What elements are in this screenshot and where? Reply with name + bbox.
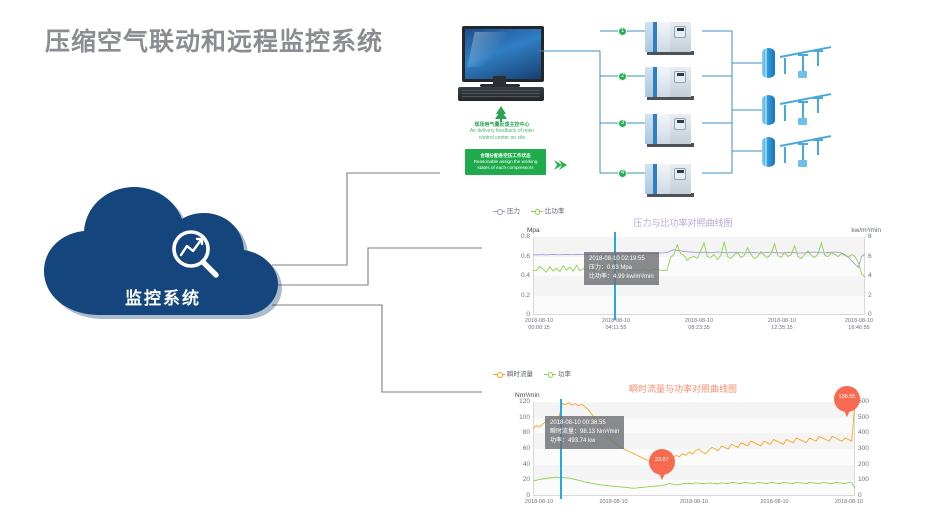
x-tick-date: 2018-08-10 xyxy=(602,318,630,324)
flow-power-chart[interactable]: 瞬时流量 功率 瞬时流量与功率对照曲线图 Nm³/min 12010080604… xyxy=(483,366,883,526)
x-tick: 2018-08-10 xyxy=(823,499,875,506)
chart2-marker-pin-low-label: 33.87 xyxy=(649,457,675,463)
compressor-panel xyxy=(674,26,686,38)
y-tick: 0.4 xyxy=(503,272,530,279)
x-tick-date: 2018-08-10 xyxy=(599,499,627,505)
y-tick: 0.8 xyxy=(503,233,530,240)
chart2-marker-pin-high[interactable]: 138.55 xyxy=(834,386,860,418)
compressor-unit xyxy=(645,22,691,52)
y2-tick: 0 xyxy=(858,492,862,499)
y-tick: 0 xyxy=(503,492,530,499)
y2-tick: 8 xyxy=(868,233,872,240)
chart1-tooltip-row1: 压力：0.63 Mpa xyxy=(589,264,654,273)
chart2-tooltip-row1: 瞬时流量：98.13 Nm³/min xyxy=(550,428,619,437)
chart2-tooltip: 2018-08-10 00:38:55 瞬时流量：98.13 Nm³/min 功… xyxy=(545,416,624,449)
x-tick-time: 00:00:15 xyxy=(528,325,549,331)
series-line-功率 xyxy=(533,477,855,488)
pipe-main xyxy=(780,135,831,146)
air-tank-group xyxy=(762,135,832,169)
pipe-cross xyxy=(798,143,808,145)
system-topology-diagram: 现场用气量反馈主控中心 Air delivery feedback of mai… xyxy=(440,18,940,203)
y-tick: 60 xyxy=(503,445,530,452)
legend-marker-specific-power xyxy=(531,208,543,214)
legend-label-flow: 瞬时流量 xyxy=(507,371,533,378)
chart-series-layer xyxy=(533,237,865,315)
compressor-panel xyxy=(674,118,686,130)
chart2-cursor-line[interactable] xyxy=(560,399,562,499)
pipe-cross xyxy=(798,54,808,56)
chart2-tooltip-row2: 功率：493.74 kw xyxy=(550,437,619,446)
compressor-panel xyxy=(674,168,686,180)
compressor-unit xyxy=(645,67,691,97)
chart2-legend[interactable]: 瞬时流量 功率 xyxy=(493,368,580,378)
y-tick: 0.2 xyxy=(503,292,530,299)
cloud-label: 监控系统 xyxy=(38,284,288,309)
legend-marker-pressure xyxy=(493,208,505,214)
y2-tick: 400 xyxy=(858,429,869,436)
y-tick: 0 xyxy=(503,311,530,318)
legend-marker-power xyxy=(544,371,556,377)
status-node-4[interactable]: 4 xyxy=(618,169,627,178)
magnifier-chart-icon xyxy=(166,225,226,285)
pipe-drop xyxy=(784,147,786,163)
x-tick-date: 2018-08-10 xyxy=(525,318,553,324)
status-node-2[interactable]: 2 xyxy=(618,72,627,81)
air-tank-icon xyxy=(762,95,775,125)
legend-label-specific-power: 比功率 xyxy=(545,208,565,215)
chart2-tooltip-time: 2018-08-10 00:38:55 xyxy=(550,419,619,428)
chart1-tooltip: 2018-08-10 02:19:55 压力：0.63 Mpa 比功率：4.99… xyxy=(584,252,659,285)
chart2-marker-pin-high-label: 138.55 xyxy=(834,394,860,400)
pipe-main xyxy=(780,46,831,57)
air-tank-group xyxy=(762,46,832,80)
pipe-cross xyxy=(813,50,823,52)
machine-icon xyxy=(798,160,807,167)
x-tick-date: 2018-08-10 xyxy=(685,318,713,324)
x-tick-date: 2018-08-10 xyxy=(760,499,788,505)
x-tick-time: 08:23:35 xyxy=(688,325,709,331)
legend-label-pressure: 压力 xyxy=(507,208,520,215)
x-tick: 2018-08-10 xyxy=(588,499,640,506)
compressor-unit xyxy=(645,114,691,144)
pipe-cross xyxy=(813,139,823,141)
y2-tick: 2 xyxy=(868,292,872,299)
chart1-title: 压力与比功率对照曲线图 xyxy=(483,216,883,229)
legend-item-pressure[interactable]: 压力 xyxy=(493,205,520,215)
pipe-drop xyxy=(817,139,819,155)
legend-marker-flow xyxy=(493,371,505,377)
monitoring-cloud[interactable]: 监控系统 xyxy=(38,185,293,325)
series-line-压力 xyxy=(533,250,865,268)
machine-icon xyxy=(798,118,807,125)
x-tick: 2018-08-10 xyxy=(749,499,801,506)
compressor-unit xyxy=(645,164,691,194)
y-tick: 0.6 xyxy=(503,253,530,260)
y-tick: 20 xyxy=(503,476,530,483)
y2-tick: 0 xyxy=(868,311,872,318)
chart1-plot-area[interactable] xyxy=(533,237,865,315)
pipe-drop xyxy=(784,105,786,121)
x-tick: 2018-08-10 xyxy=(513,499,565,506)
legend-item-power[interactable]: 功率 xyxy=(544,368,571,378)
x-tick-time: 16:46:55 xyxy=(848,325,869,331)
pipe-cross xyxy=(813,97,823,99)
chart1-y2-unit: kw/m³/min xyxy=(851,227,881,234)
x-tick-date: 2018-08-10 xyxy=(525,499,553,505)
x-tick-date: 2018-08-10 xyxy=(680,499,708,505)
pipe-main xyxy=(780,93,831,104)
x-tick-date: 2018-08-10 xyxy=(835,499,863,505)
x-tick: 2018-08-1000:00:15 xyxy=(513,318,565,332)
legend-item-flow[interactable]: 瞬时流量 xyxy=(493,368,533,378)
y2-tick: 200 xyxy=(858,461,869,468)
air-tank-icon xyxy=(762,137,775,167)
y-tick: 100 xyxy=(503,414,530,421)
x-tick-time: 12:35:15 xyxy=(771,325,792,331)
x-tick-time: 04:11:55 xyxy=(605,325,626,331)
machine-icon xyxy=(798,71,807,78)
compressor-panel xyxy=(674,71,686,83)
x-tick-date: 2018-08-10 xyxy=(845,318,873,324)
chart1-tooltip-row2: 比功率：4.99 kw/m³/min xyxy=(589,273,654,282)
x-tick-date: 2018-08-10 xyxy=(768,318,796,324)
air-tank-group xyxy=(762,93,832,127)
y2-tick: 100 xyxy=(858,476,869,483)
chart1-legend[interactable]: 压力 比功率 xyxy=(493,205,573,215)
x-tick: 2018-08-10 xyxy=(668,499,720,506)
air-tank-icon xyxy=(762,48,775,78)
x-tick: 2018-08-1004:11:55 xyxy=(590,318,642,332)
legend-item-specific-power[interactable]: 比功率 xyxy=(531,205,565,215)
y-tick: 80 xyxy=(503,429,530,436)
pipe-drop xyxy=(817,50,819,66)
series-line-比功率 xyxy=(533,242,865,277)
y2-tick: 4 xyxy=(868,272,872,279)
x-tick: 2018-08-1012:35:15 xyxy=(756,318,808,332)
status-node-1[interactable]: 1 xyxy=(618,27,627,36)
status-node-3[interactable]: 3 xyxy=(618,119,627,128)
pipe-drop xyxy=(817,97,819,113)
x-tick: 2018-08-1008:23:35 xyxy=(673,318,725,332)
chart1-tooltip-time: 2018-08-10 02:19:55 xyxy=(589,255,654,264)
pipe-drop xyxy=(784,58,786,74)
pressure-power-chart[interactable]: 压力 比功率 压力与比功率对照曲线图 Mpa kw/m³/min 0.80.60… xyxy=(483,202,883,334)
chart2-title: 瞬时流量与功率对照曲线图 xyxy=(483,382,883,395)
page-title: 压缩空气联动和远程监控系统 xyxy=(45,22,383,58)
y-tick: 40 xyxy=(503,461,530,468)
y2-tick: 300 xyxy=(858,445,869,452)
y-tick: 120 xyxy=(503,398,530,405)
chart2-marker-pin-low[interactable]: 33.87 xyxy=(649,449,675,481)
legend-label-power: 功率 xyxy=(558,371,571,378)
x-tick: 2018-08-1016:46:55 xyxy=(833,318,885,332)
y2-tick: 6 xyxy=(868,253,872,260)
pipe-cross xyxy=(798,101,808,103)
